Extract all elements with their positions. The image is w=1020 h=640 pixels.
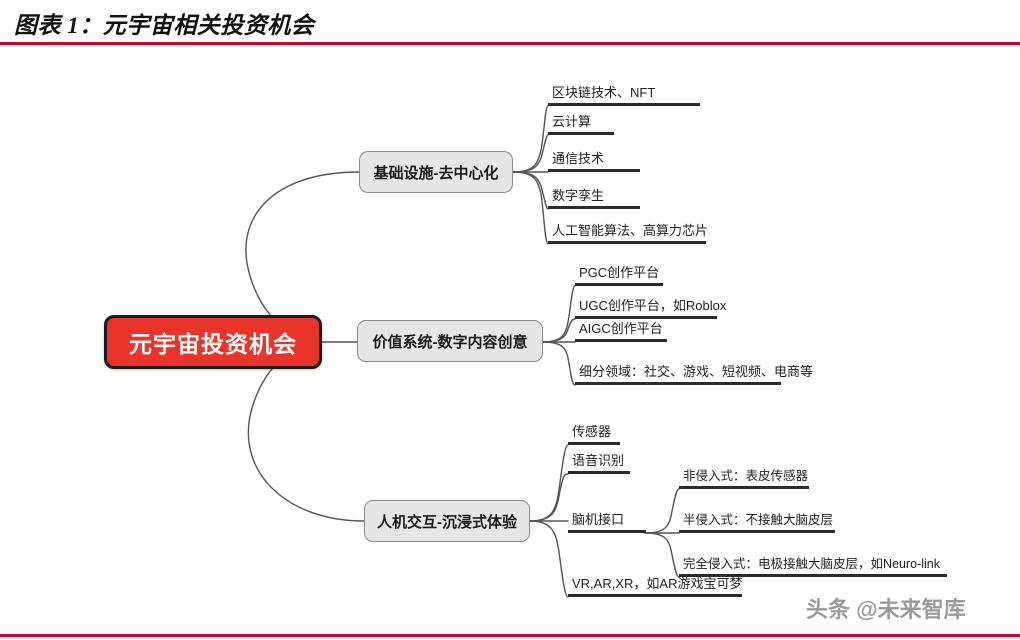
leaf-item[interactable]: 语音识别	[568, 453, 630, 474]
leaf-item[interactable]: 脑机接口	[568, 512, 646, 533]
root-node-label: 元宇宙投资机会	[129, 325, 297, 359]
leaf-underline	[575, 283, 663, 286]
leaf-item[interactable]: 区块链技术、NFT	[548, 85, 700, 106]
connector-branch-1-leaf-3	[543, 342, 575, 385]
watermark: 头条 @未来智库	[806, 592, 966, 624]
leaf-item[interactable]: UGC创作平台，如Roblox	[575, 298, 726, 319]
leaf-item[interactable]: 细分领域：社交、游戏、短视频、电商等	[575, 364, 813, 385]
branch-node-infrastructure[interactable]: 基础设施-去中心化	[359, 151, 513, 193]
leaf-item[interactable]: 传感器	[568, 424, 620, 445]
connector-branch-0-leaf-0	[513, 106, 548, 172]
leaf-label: 人工智能算法、高算力芯片	[548, 223, 708, 239]
header-divider	[0, 42, 1020, 45]
leaf-item[interactable]: 数字孪生	[548, 188, 640, 209]
leaf-label: 数字孪生	[548, 188, 640, 204]
leaf-underline	[575, 339, 667, 342]
sub-leaf-label: 非侵入式：表皮传感器	[679, 468, 809, 484]
leaf-underline	[575, 382, 781, 385]
connector-branch-2-leaf-3	[530, 521, 568, 597]
mindmap-diagram: 元宇宙投资机会 基础设施-去中心化 价值系统-数字内容创意 人机交互-沉浸式体验…	[0, 46, 1020, 634]
connector-branch-2-leaf-1	[530, 474, 568, 521]
page-title: 图表 1：元宇宙相关投资机会	[14, 6, 314, 40]
connector-sub-leaf-0	[645, 489, 679, 533]
leaf-item[interactable]: PGC创作平台	[575, 265, 663, 286]
leaf-label: UGC创作平台，如Roblox	[575, 298, 726, 314]
leaf-underline	[568, 594, 742, 597]
leaf-label: 云计算	[548, 114, 614, 130]
branch-node-human-interaction[interactable]: 人机交互-沉浸式体验	[364, 500, 530, 542]
connector-branch-0-leaf-4	[513, 172, 548, 244]
sub-leaf-label: 半侵入式：不接触大脑皮层	[679, 512, 835, 528]
figure-header: 图表 1：元宇宙相关投资机会	[0, 0, 1020, 46]
leaf-item[interactable]: 云计算	[548, 114, 614, 135]
leaf-underline	[568, 530, 646, 533]
leaf-label: PGC创作平台	[575, 265, 663, 281]
footer-divider	[0, 634, 1020, 637]
sub-leaf-item[interactable]: 非侵入式：表皮传感器	[679, 468, 809, 489]
branch-node-value-system[interactable]: 价值系统-数字内容创意	[357, 320, 543, 362]
connector-branch-1-leaf-0	[543, 286, 575, 342]
leaf-item[interactable]: VR,AR,XR，如AR游戏宝可梦	[568, 576, 742, 597]
leaf-underline	[548, 206, 640, 209]
leaf-underline	[575, 316, 717, 319]
sub-leaf-item[interactable]: 完全侵入式：电极接触大脑皮层，如Neuro-link	[679, 556, 947, 577]
leaf-label: 脑机接口	[568, 512, 646, 528]
leaf-underline	[568, 471, 630, 474]
leaf-underline	[679, 574, 947, 577]
leaf-underline	[548, 132, 614, 135]
leaf-label: 细分领域：社交、游戏、短视频、电商等	[575, 364, 813, 380]
leaf-label: AIGC创作平台	[575, 321, 667, 337]
leaf-label: 区块链技术、NFT	[548, 85, 700, 101]
leaf-item[interactable]: 人工智能算法、高算力芯片	[548, 223, 708, 244]
sub-leaf-label: 完全侵入式：电极接触大脑皮层，如Neuro-link	[679, 556, 947, 572]
leaf-item[interactable]: AIGC创作平台	[575, 321, 667, 342]
leaf-item[interactable]: 通信技术	[548, 151, 640, 172]
leaf-underline	[548, 241, 706, 244]
leaf-label: 语音识别	[568, 453, 630, 469]
branch-node-label: 人机交互-沉浸式体验	[377, 511, 517, 532]
leaf-underline	[679, 530, 835, 533]
leaf-underline	[548, 103, 700, 106]
leaf-label: 通信技术	[548, 151, 640, 167]
leaf-underline	[548, 169, 640, 172]
root-node[interactable]: 元宇宙投资机会	[104, 315, 322, 369]
leaf-label: VR,AR,XR，如AR游戏宝可梦	[568, 576, 742, 592]
branch-node-label: 基础设施-去中心化	[374, 162, 499, 183]
leaf-label: 传感器	[568, 424, 620, 440]
sub-leaf-item[interactable]: 半侵入式：不接触大脑皮层	[679, 512, 835, 533]
branch-node-label: 价值系统-数字内容创意	[373, 331, 528, 352]
leaf-underline	[679, 486, 809, 489]
connector-sub-leaf-2	[645, 533, 679, 577]
leaf-underline	[568, 442, 620, 445]
